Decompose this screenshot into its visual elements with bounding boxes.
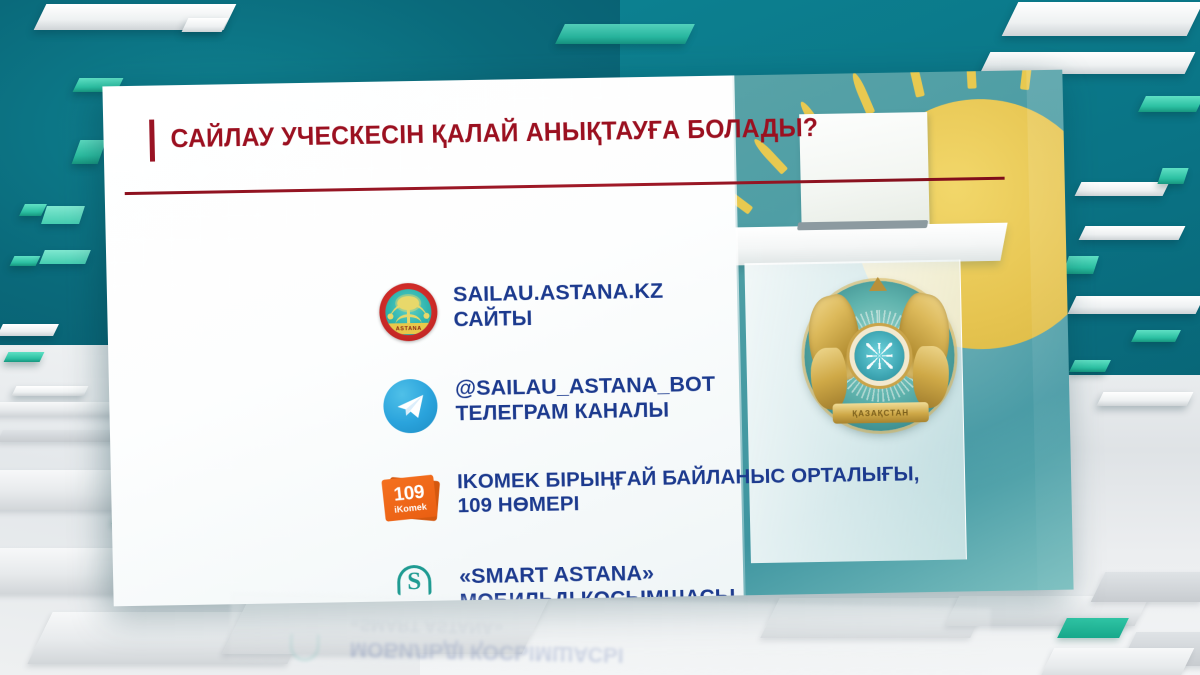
ikomek-109-icon: 109 iKomek	[383, 471, 442, 530]
page-title: САЙЛАУ УЧЕСКЕСІН ҚАЛАЙ АНЫҚТАУҒА БОЛАДЫ?	[170, 115, 818, 153]
floating-slab	[12, 386, 89, 396]
list-item-secondary: САЙТЫ	[453, 304, 664, 333]
floating-slab	[1157, 168, 1188, 184]
ikomek-number: 109	[393, 482, 425, 504]
emblem-caption: ASTANA	[389, 323, 429, 335]
floating-slab	[4, 352, 45, 362]
floating-slab	[39, 250, 91, 264]
floating-slab	[1131, 330, 1181, 342]
list-item-primary: @SAILAU_ASTANA_BOT	[455, 372, 716, 402]
floating-slab	[41, 206, 85, 224]
smart-astana-icon: S SMART ASTANA	[385, 565, 444, 607]
floating-slab	[555, 24, 695, 44]
card-header: САЙЛАУ УЧЕСКЕСІН ҚАЛАЙ АНЫҚТАУҒА БОЛАДЫ?	[149, 108, 724, 162]
list-item[interactable]: @SAILAU_ASTANA_BOT ТЕЛЕГРАМ КАНАЛЫ	[381, 364, 1022, 447]
info-card: ҚАЗАҚСТАН САЙЛАУ УЧЕСКЕСІН ҚАЛАЙ АНЫҚТАУ…	[102, 70, 1073, 607]
floating-slab	[182, 18, 229, 32]
title-accent-bar	[149, 120, 155, 162]
floating-slab	[1079, 226, 1186, 240]
floor-slab	[222, 596, 550, 654]
list-item-primary: SAILAU.ASTANA.KZ	[453, 279, 664, 308]
floating-slab	[10, 256, 41, 266]
list-item-secondary: ТЕЛЕГРАМ КАНАЛЫ	[455, 397, 716, 427]
floating-slab	[1063, 256, 1099, 274]
floating-slab	[1097, 392, 1194, 406]
telegram-icon	[381, 377, 440, 436]
smart-astana-letter: S	[407, 569, 421, 594]
channels-list: ASTANA SAILAU.ASTANA.KZ САЙТЫ @	[379, 270, 1027, 606]
floor-slab	[1038, 648, 1195, 675]
floating-slab	[1068, 296, 1200, 314]
floating-slab	[1069, 360, 1111, 372]
floating-slab	[1075, 182, 1170, 196]
floating-slab	[0, 324, 59, 336]
ballot-box-lid	[732, 223, 1007, 266]
ikomek-name: iKomek	[394, 502, 427, 514]
list-item[interactable]: 109 iKomek IKOMEK БІРЫҢҒАЙ БАЙЛАНЫС ОРТА…	[383, 458, 1024, 541]
floor-slab	[1057, 618, 1129, 638]
astana-emblem-icon: ASTANA	[379, 283, 438, 342]
floating-slab	[1002, 2, 1200, 36]
floating-slab	[1138, 96, 1200, 112]
floor-slab	[1091, 572, 1200, 602]
list-item[interactable]: ASTANA SAILAU.ASTANA.KZ САЙТЫ	[379, 270, 1020, 353]
ballot-paper	[799, 112, 929, 226]
